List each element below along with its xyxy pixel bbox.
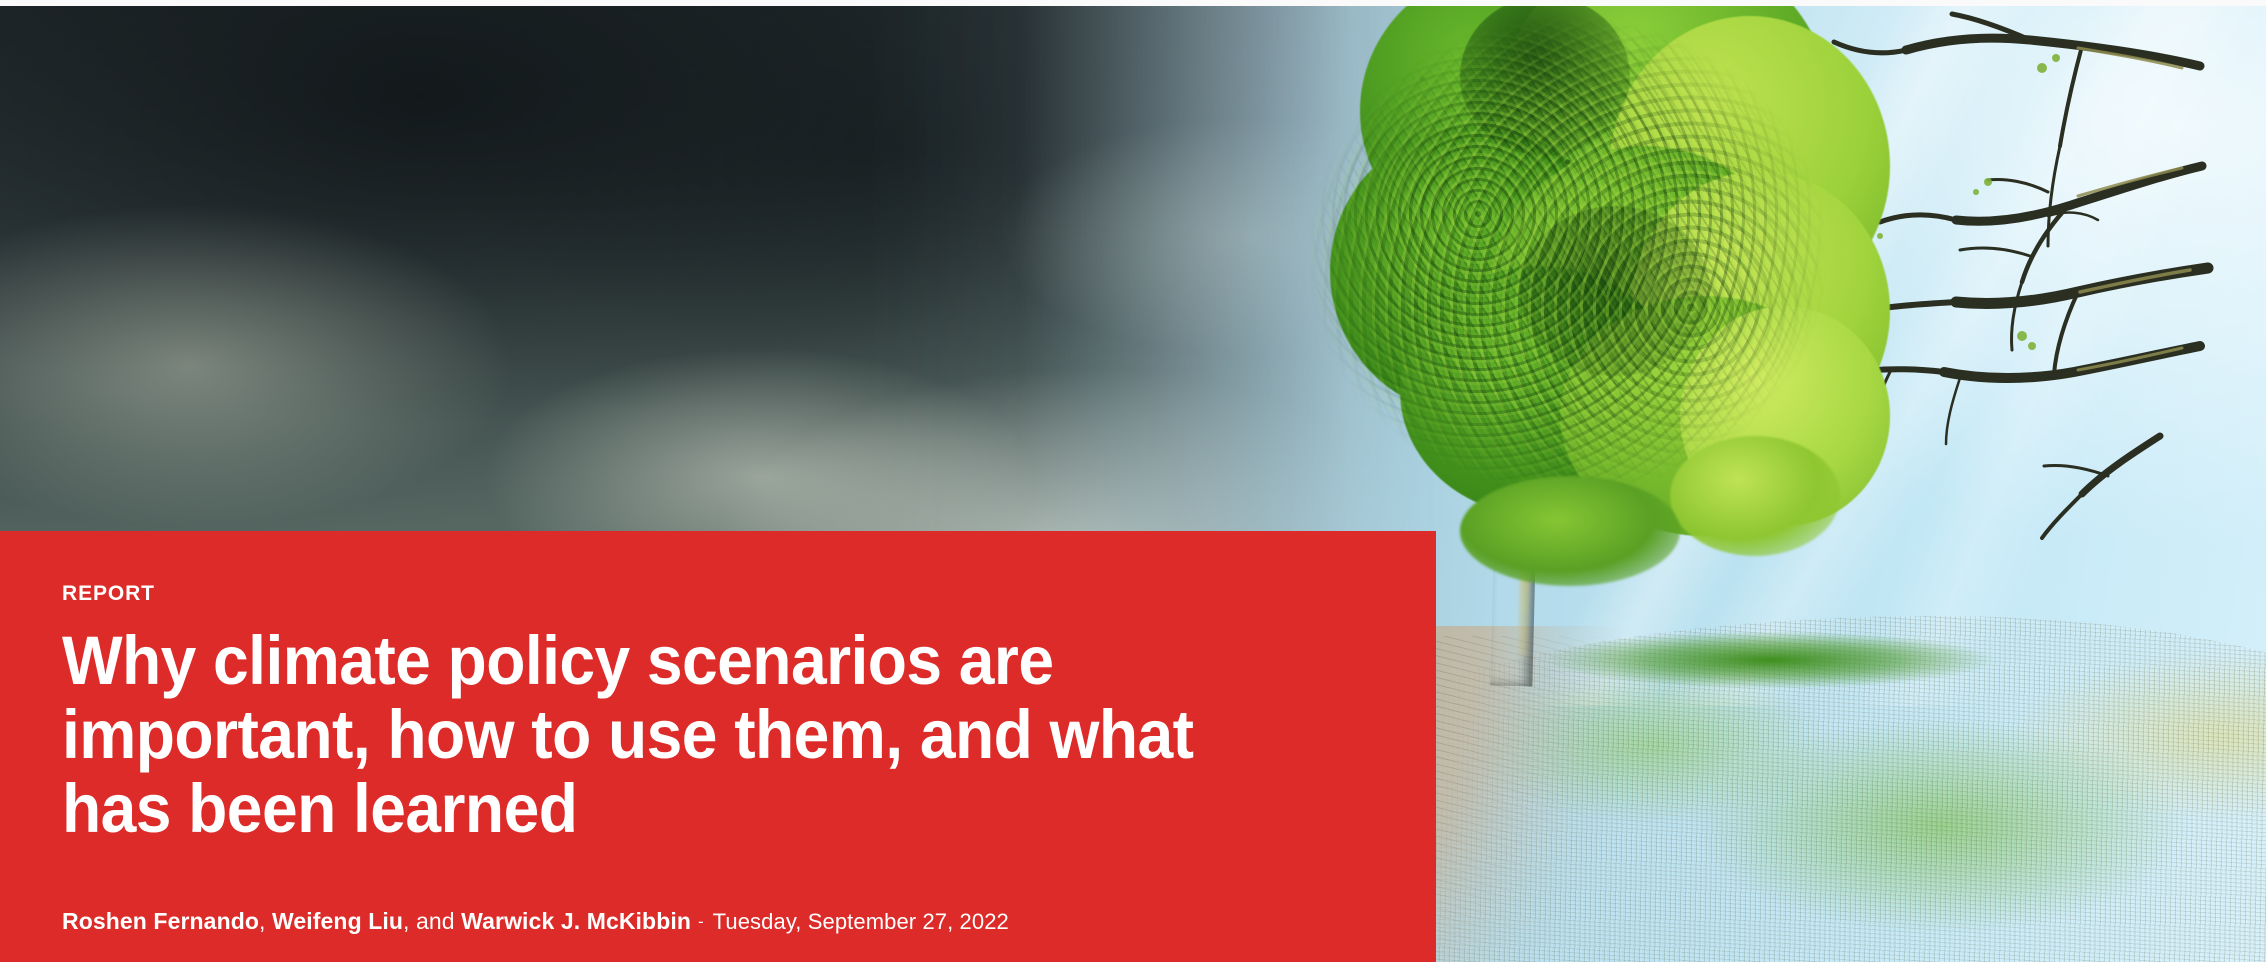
author-comma-1: , [259,908,272,934]
canopy-wisp-lower [1670,436,1840,556]
article-kicker: REPORT [62,583,1376,604]
author-list: Roshen Fernando, Weifeng Liu, and Warwic… [62,908,691,934]
page-title: Why climate policy scenarios are importa… [62,624,1284,845]
publish-date: Tuesday, September 27, 2022 [713,909,1009,934]
canopy-wisp-lower-2 [1460,476,1680,586]
author-link-3[interactable]: Warwick J. McKibbin [461,908,691,934]
author-link-1[interactable]: Roshen Fernando [62,908,259,934]
author-link-2[interactable]: Weifeng Liu [272,908,403,934]
author-conjunction: , and [403,908,461,934]
page-top-strip [0,0,2266,6]
byline: Roshen Fernando, Weifeng Liu, and Warwic… [62,908,1009,936]
headline-block: REPORT Why climate policy scenarios are … [0,531,1436,962]
article-hero-page: REPORT Why climate policy scenarios are … [0,0,2266,962]
byline-separator: - [691,912,713,931]
